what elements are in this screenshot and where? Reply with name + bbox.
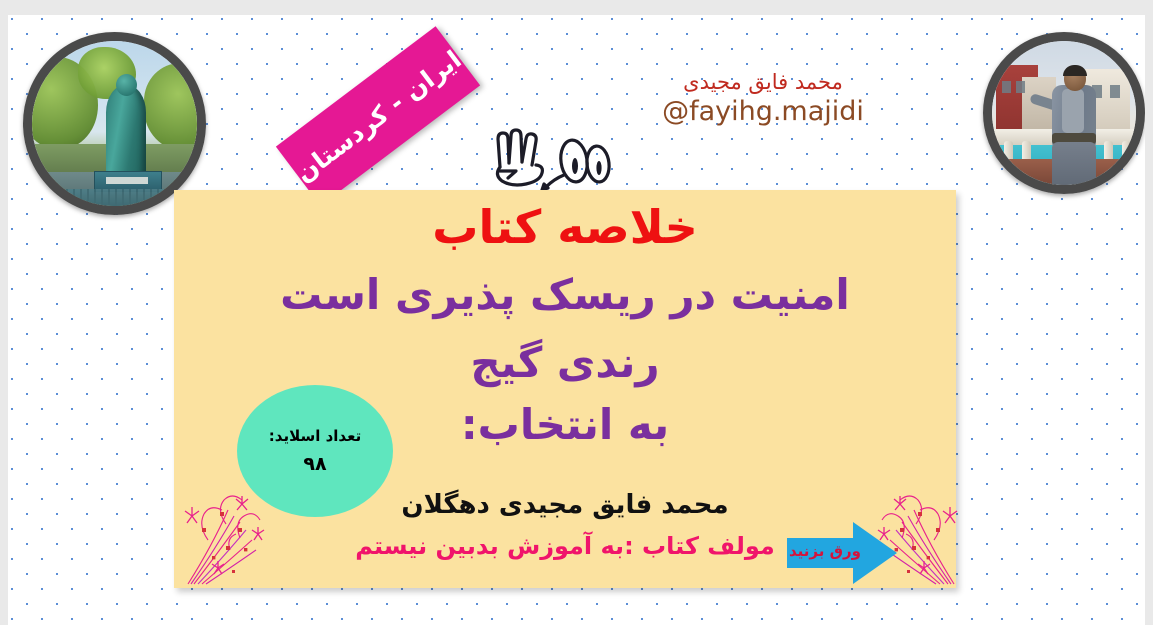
slide-count-label: تعداد اسلاید: bbox=[269, 427, 361, 445]
statue-park-photo bbox=[23, 32, 206, 215]
portrait-photo bbox=[983, 32, 1145, 194]
dotted-paper-background: ایران - کردستان bbox=[8, 15, 1145, 625]
slide-title-line-1: امنیت در ریسک پذیری است bbox=[174, 270, 956, 319]
credit-handle[interactable]: @fayihg.majidi bbox=[638, 95, 888, 129]
hand-and-eyes-doodle-icon bbox=[478, 127, 614, 195]
author-credit: محمد فایق مجیدی @fayihg.majidi bbox=[638, 69, 888, 129]
slide-count-value: ۹۸ bbox=[303, 453, 326, 475]
slide-title-line-2: رندی گیج bbox=[174, 338, 956, 387]
credit-name: محمد فایق مجیدی bbox=[638, 69, 888, 95]
next-slide-button[interactable]: ورق بزنید bbox=[787, 520, 897, 586]
slide-kicker: خلاصه کتاب bbox=[174, 200, 956, 254]
ribbon-label: ایران - کردستان bbox=[276, 26, 480, 205]
app-root: ایران - کردستان bbox=[0, 0, 1153, 625]
ribbon-body: ایران - کردستان bbox=[276, 26, 480, 205]
slide-panel: خلاصه کتاب امنیت در ریسک پذیری است رندی … bbox=[174, 190, 956, 588]
region-ribbon: ایران - کردستان bbox=[270, 49, 500, 209]
firework-burst-icon bbox=[182, 490, 268, 586]
arrow-right-icon bbox=[787, 520, 897, 586]
